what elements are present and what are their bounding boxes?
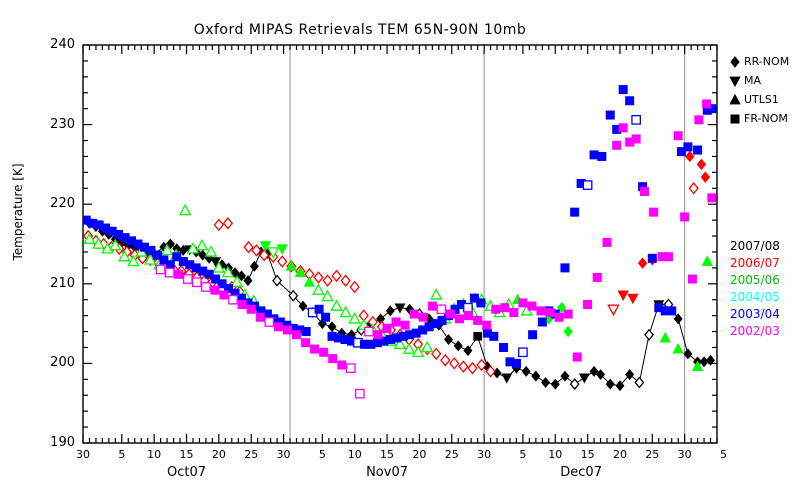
data-point-diamond (332, 271, 341, 282)
y-tick-label: 210 (29, 276, 75, 291)
data-point-triangle-up (730, 94, 740, 104)
data-point-square (632, 135, 640, 143)
data-point-square (512, 359, 520, 367)
y-tick-label: 200 (29, 355, 75, 370)
symbol-legend: RR-NOMMAUTLS1FR-NOM (726, 52, 800, 128)
data-point-triangle-down (730, 76, 740, 86)
data-point-square (238, 300, 246, 308)
data-point-square (564, 310, 572, 318)
x-tick-label: 5 (107, 448, 137, 461)
data-point-square (310, 345, 318, 353)
data-point-square (501, 303, 509, 311)
data-point-diamond (432, 349, 441, 360)
legend-year-2006-07: 2006/07 (730, 255, 800, 272)
data-point-square (731, 114, 739, 122)
y-tick-label: 240 (29, 37, 75, 52)
data-point-square (603, 238, 611, 246)
legend-symbol-row: FR-NOM (726, 109, 800, 128)
series-2007-08 (85, 218, 714, 390)
data-point-square (510, 308, 518, 316)
data-point-diamond (638, 258, 647, 269)
data-point-square (437, 305, 445, 313)
data-point-square (648, 254, 656, 262)
data-point-triangle-down (618, 291, 628, 301)
data-point-diamond (700, 357, 708, 367)
data-point-triangle-up (350, 313, 360, 323)
data-point-square (538, 318, 546, 326)
data-point-diamond (522, 366, 530, 376)
data-point-triangle-down (502, 374, 512, 383)
data-point-diamond (244, 242, 253, 253)
data-point-triangle-up (422, 342, 432, 352)
data-point-square (555, 313, 563, 321)
square-icon (726, 110, 744, 128)
data-point-square (546, 308, 554, 316)
data-point-square (383, 324, 391, 332)
data-point-square (392, 318, 400, 326)
x-tick-label: 20 (204, 448, 234, 461)
data-point-square (292, 331, 300, 339)
data-point-triangle-up (673, 344, 683, 354)
data-point-square (668, 307, 676, 315)
data-point-square (202, 283, 210, 291)
data-point-diamond (250, 261, 258, 271)
data-point-diamond (697, 159, 706, 170)
data-point-diamond (450, 358, 459, 369)
triangle-up-icon (726, 91, 744, 109)
data-point-square (156, 265, 164, 273)
data-point-diamond (386, 306, 394, 316)
data-point-square (573, 353, 581, 361)
data-point-diamond (564, 326, 573, 337)
x-month-label: Dec07 (541, 465, 621, 480)
color-legend: 2007/082006/072005/062004/052003/042002/… (730, 238, 800, 340)
data-point-square (338, 361, 346, 369)
x-tick-label: 30 (269, 448, 299, 461)
chart-root: Oxford MIPAS Retrievals TEM 65N-90N 10mb… (0, 0, 800, 500)
data-point-diamond (244, 276, 252, 286)
data-point-diamond (645, 330, 653, 340)
data-point-square (166, 260, 174, 268)
x-tick-label: 15 (172, 448, 202, 461)
data-point-square (474, 332, 482, 340)
data-point-square (347, 364, 355, 372)
x-tick-label: 30 (68, 448, 98, 461)
data-point-square (419, 313, 427, 321)
data-point-square (301, 339, 309, 347)
data-point-square (165, 268, 173, 276)
x-tick-label: 10 (340, 448, 370, 461)
data-point-square (625, 97, 633, 105)
data-point-triangle-down (628, 294, 638, 304)
data-point-diamond (561, 371, 569, 381)
data-point-square (319, 348, 327, 356)
data-point-diamond (731, 56, 740, 67)
data-point-square (428, 302, 436, 310)
data-point-square (702, 100, 710, 108)
data-point-square (613, 141, 621, 149)
data-point-diamond (328, 322, 336, 332)
data-point-diamond (215, 220, 224, 231)
legend-symbol-label: RR-NOM (744, 55, 789, 68)
data-point-square (365, 327, 373, 335)
data-point-square (583, 300, 591, 308)
data-point-diamond (273, 276, 281, 286)
data-point-square (640, 187, 648, 195)
data-point-square (693, 146, 701, 154)
data-point-square (695, 116, 703, 124)
data-point-square (175, 270, 183, 278)
data-point-square (401, 321, 409, 329)
x-tick-label: 30 (670, 448, 700, 461)
data-point-diamond (224, 218, 233, 229)
legend-symbol-label: MA (744, 74, 761, 87)
data-point-square (193, 278, 201, 286)
data-point-square (321, 313, 329, 321)
data-point-square (583, 181, 591, 189)
data-point-square (590, 151, 598, 159)
data-point-diamond (686, 151, 695, 162)
data-point-square (537, 307, 545, 315)
data-point-diamond (459, 361, 468, 372)
series-2005-06 (84, 205, 712, 371)
data-point-square (492, 305, 500, 313)
x-tick-label: 15 (573, 448, 603, 461)
data-point-triangle-up (660, 332, 670, 342)
data-point-square (606, 111, 614, 119)
legend-symbol-row: RR-NOM (726, 52, 800, 71)
data-point-square (356, 389, 364, 397)
legend-year-2005-06: 2005/06 (730, 272, 800, 289)
data-point-square (619, 124, 627, 132)
legend-symbol-row: UTLS1 (726, 90, 800, 109)
data-point-square (265, 318, 273, 326)
data-point-triangle-up (431, 289, 441, 299)
y-tick-label: 230 (29, 117, 75, 132)
x-tick-label: 25 (637, 448, 667, 461)
x-tick-label: 20 (404, 448, 434, 461)
data-point-square (184, 275, 192, 283)
data-point-square (473, 316, 481, 324)
x-tick-label: 5 (307, 448, 337, 461)
data-point-diamond (571, 379, 579, 389)
x-tick-label: 25 (437, 448, 467, 461)
x-tick-label: 10 (540, 448, 570, 461)
data-point-triangle-down (277, 245, 287, 255)
data-point-square (680, 213, 688, 221)
data-point-diamond (701, 172, 710, 183)
data-point-triangle-up (197, 240, 207, 250)
data-point-triangle-up (340, 307, 350, 317)
data-point-square (499, 343, 507, 351)
y-tick-label: 220 (29, 196, 75, 211)
data-point-square (649, 208, 657, 216)
legend-year-2003-04: 2003/04 (730, 306, 800, 323)
legend-year-2007-08: 2007/08 (730, 238, 800, 255)
data-point-diamond (532, 371, 540, 381)
data-point-square (315, 305, 323, 313)
data-point-square (708, 194, 716, 202)
legend-symbol-label: UTLS1 (744, 93, 779, 106)
x-month-label: Nov07 (347, 465, 427, 480)
x-tick-label: 5 (508, 448, 538, 461)
x-tick-label: 5 (708, 448, 738, 461)
data-point-triangle-down (608, 305, 618, 315)
data-point-square (664, 253, 672, 261)
data-point-triangle-up (206, 247, 216, 257)
data-point-diamond (468, 363, 477, 374)
data-point-square (229, 296, 237, 304)
data-point-diamond (454, 341, 462, 351)
legend-year-2004-05: 2004/05 (730, 289, 800, 306)
data-point-square (528, 331, 536, 339)
data-point-triangle-up (331, 301, 341, 311)
x-month-label: Oct07 (147, 465, 227, 480)
data-point-triangle-down (579, 374, 589, 383)
legend-symbol-label: FR-NOM (744, 112, 788, 125)
data-point-square (274, 323, 282, 331)
data-point-square (446, 310, 454, 318)
data-point-square (519, 348, 527, 356)
data-point-diamond (689, 183, 698, 194)
x-tick-label: 20 (605, 448, 635, 461)
series-2006-07 (84, 151, 710, 376)
data-point-square (684, 143, 692, 151)
data-point-triangle-up (304, 277, 314, 287)
triangle-down-icon (726, 72, 744, 90)
data-point-triangle-up (702, 256, 712, 266)
data-point-square (464, 303, 472, 311)
data-point-square (598, 152, 606, 160)
diamond-icon (726, 53, 744, 71)
data-point-square (674, 132, 682, 140)
data-point-square (256, 313, 264, 321)
x-tick-label: 30 (469, 448, 499, 461)
x-tick-label: 10 (139, 448, 169, 461)
data-point-diamond (635, 378, 643, 388)
data-point-triangle-up (322, 291, 332, 301)
data-point-square (688, 275, 696, 283)
data-point-diamond (350, 282, 359, 293)
data-point-square (283, 326, 291, 334)
data-point-triangle-up (180, 205, 190, 215)
data-point-square (477, 299, 485, 307)
data-point-diamond (278, 256, 287, 267)
data-point-square (490, 332, 498, 340)
data-point-square (410, 310, 418, 318)
data-point-diamond (541, 378, 549, 388)
data-point-diamond (314, 272, 323, 283)
data-point-square (519, 299, 527, 307)
data-point-square (593, 273, 601, 281)
legend-symbol-row: MA (726, 71, 800, 90)
plot-area (0, 0, 800, 500)
data-point-square (211, 286, 219, 294)
data-point-diamond (323, 275, 332, 286)
data-point-square (329, 354, 337, 362)
data-point-square (455, 315, 463, 323)
data-point-diamond (551, 379, 559, 389)
legend-year-2002-03: 2002/03 (730, 323, 800, 340)
data-point-square (619, 85, 627, 93)
x-tick-label: 25 (236, 448, 266, 461)
data-point-square (632, 116, 640, 124)
data-point-square (528, 302, 536, 310)
data-point-square (464, 311, 472, 319)
x-tick-label: 15 (372, 448, 402, 461)
data-point-square (374, 331, 382, 339)
data-point-square (247, 305, 255, 313)
data-point-square (482, 321, 490, 329)
data-point-square (220, 291, 228, 299)
data-point-square (561, 264, 569, 272)
data-point-diamond (341, 275, 350, 286)
data-point-square (302, 327, 310, 335)
data-point-diamond (441, 355, 450, 366)
data-point-square (570, 208, 578, 216)
